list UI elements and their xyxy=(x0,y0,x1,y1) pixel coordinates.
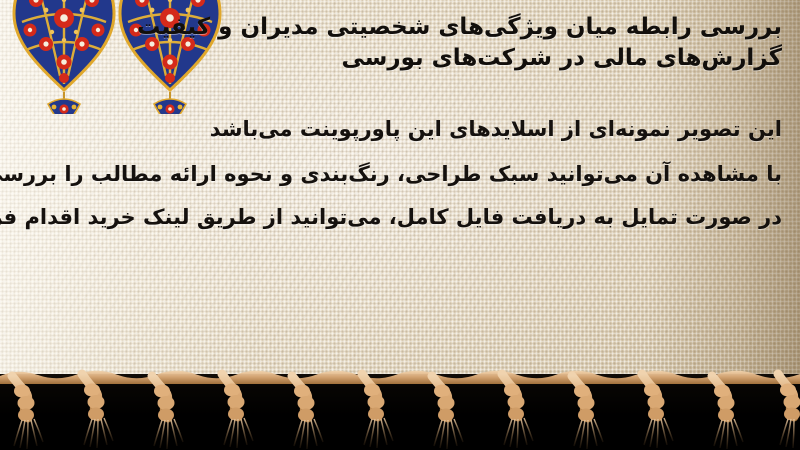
slide-title-line-2: گزارش‌های مالی در شرکت‌های بورسی xyxy=(222,43,782,74)
slide-title: بررسی رابطه میان ویژگی‌های شخصیتی مدیران… xyxy=(222,12,782,74)
slide-body: این تصویر نمونه‌ای از اسلایدهای این پاور… xyxy=(82,108,782,239)
presentation-slide: بررسی رابطه میان ویژگی‌های شخصیتی مدیران… xyxy=(0,0,800,450)
slide-body-line-2: با مشاهده آن می‌توانید سبک طراحی، رنگ‌بن… xyxy=(82,153,782,196)
slide-title-line-1: بررسی رابطه میان ویژگی‌های شخصیتی مدیران… xyxy=(222,12,782,43)
slide-body-line-1: این تصویر نمونه‌ای از اسلایدهای این پاور… xyxy=(82,108,782,151)
slide-body-line-3: در صورت تمایل به دریافت فایل کامل، می‌تو… xyxy=(82,196,782,239)
persian-medallion-ornament-left xyxy=(12,0,116,118)
carpet-fringe-tassels xyxy=(0,360,800,450)
